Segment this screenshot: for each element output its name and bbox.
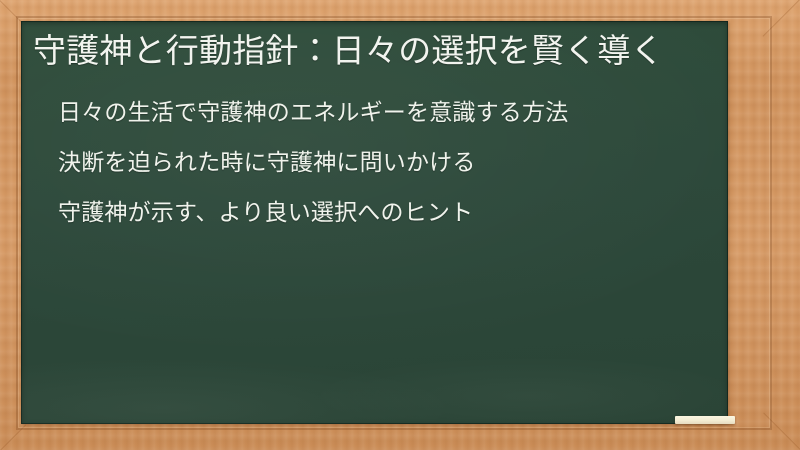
blackboard-surface: 守護神と行動指針：日々の選択を賢く導く 日々の生活で守護神のエネルギーを意識する… <box>21 21 728 424</box>
blackboard-slide: 守護神と行動指針：日々の選択を賢く導く 日々の生活で守護神のエネルギーを意識する… <box>0 0 800 450</box>
blackboard-content: 守護神と行動指針：日々の選択を賢く導く 日々の生活で守護神のエネルギーを意識する… <box>21 21 728 225</box>
slide-bullet-list: 日々の生活で守護神のエネルギーを意識する方法 決断を迫られた時に守護神に問いかけ… <box>33 102 714 225</box>
list-item: 守護神が示す、より良い選択へのヒント <box>58 202 714 225</box>
list-item: 決断を迫られた時に守護神に問いかける <box>58 152 714 175</box>
list-item: 日々の生活で守護神のエネルギーを意識する方法 <box>58 102 714 125</box>
chalk-stick-icon <box>675 416 735 424</box>
slide-title: 守護神と行動指針：日々の選択を賢く導く <box>33 30 714 73</box>
